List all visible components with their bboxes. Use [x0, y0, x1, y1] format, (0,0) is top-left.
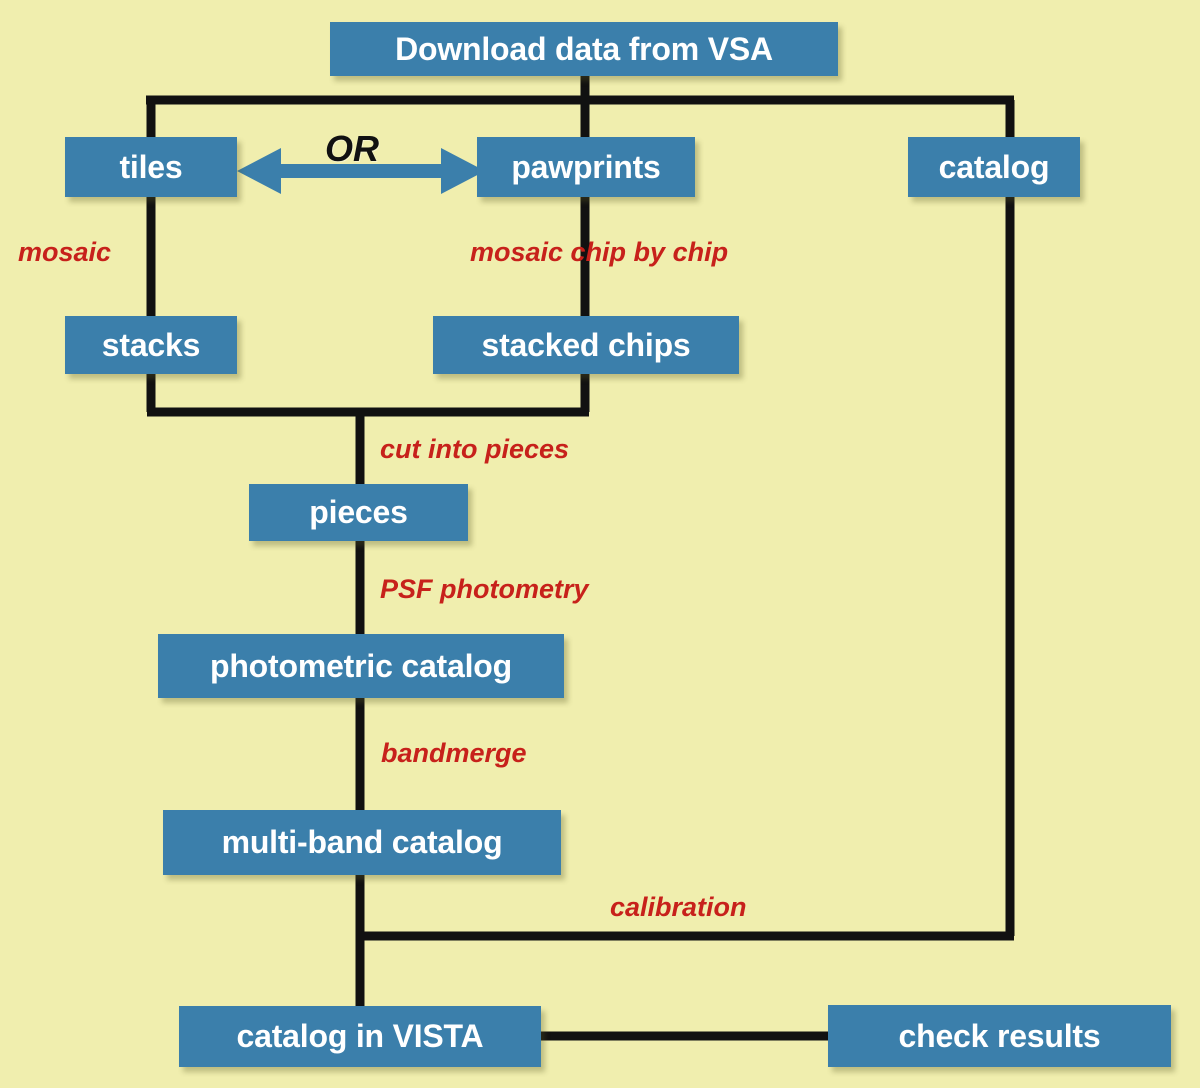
- node-photometric-catalog[interactable]: photometric catalog: [158, 634, 564, 698]
- node-label: pieces: [309, 494, 407, 531]
- edge-label-text: cut into pieces: [380, 434, 569, 464]
- node-label: tiles: [119, 149, 182, 186]
- node-pawprints[interactable]: pawprints: [477, 137, 695, 197]
- edge-label-mosaic-chip-by-chip: mosaic chip by chip: [470, 237, 728, 268]
- edge-label-mosaic: mosaic: [18, 237, 111, 268]
- node-label: photometric catalog: [210, 648, 512, 685]
- edge-label-bandmerge: bandmerge: [381, 738, 527, 769]
- edge-label-text: mosaic: [18, 237, 111, 267]
- or-label: OR: [325, 128, 379, 170]
- edge-label-cut-into-pieces: cut into pieces: [380, 434, 569, 465]
- node-catalog-in-vista[interactable]: catalog in VISTA: [179, 1006, 541, 1067]
- edge-label-text: mosaic chip by chip: [470, 237, 728, 267]
- flowchart-canvas: Download data from VSA tiles pawprints c…: [0, 0, 1200, 1088]
- node-check-results[interactable]: check results: [828, 1005, 1171, 1067]
- node-download-data[interactable]: Download data from VSA: [330, 22, 838, 76]
- or-label-text: OR: [325, 128, 379, 169]
- node-label: stacked chips: [481, 327, 690, 364]
- node-label: pawprints: [511, 149, 660, 186]
- edge-label-text: PSF photometry: [380, 574, 589, 604]
- edge-label-psf-photometry: PSF photometry: [380, 574, 589, 605]
- edge-label-calibration: calibration: [610, 892, 747, 923]
- node-multi-band-catalog[interactable]: multi-band catalog: [163, 810, 561, 875]
- node-label: catalog in VISTA: [237, 1018, 484, 1055]
- node-label: multi-band catalog: [222, 824, 503, 861]
- node-pieces[interactable]: pieces: [249, 484, 468, 541]
- node-stacks[interactable]: stacks: [65, 316, 237, 374]
- node-stacked-chips[interactable]: stacked chips: [433, 316, 739, 374]
- node-label: catalog: [939, 149, 1050, 186]
- edge-label-text: calibration: [610, 892, 747, 922]
- node-label: Download data from VSA: [395, 31, 773, 68]
- node-tiles[interactable]: tiles: [65, 137, 237, 197]
- node-label: stacks: [102, 327, 200, 364]
- node-catalog[interactable]: catalog: [908, 137, 1080, 197]
- node-label: check results: [899, 1018, 1101, 1055]
- edge-label-text: bandmerge: [381, 738, 527, 768]
